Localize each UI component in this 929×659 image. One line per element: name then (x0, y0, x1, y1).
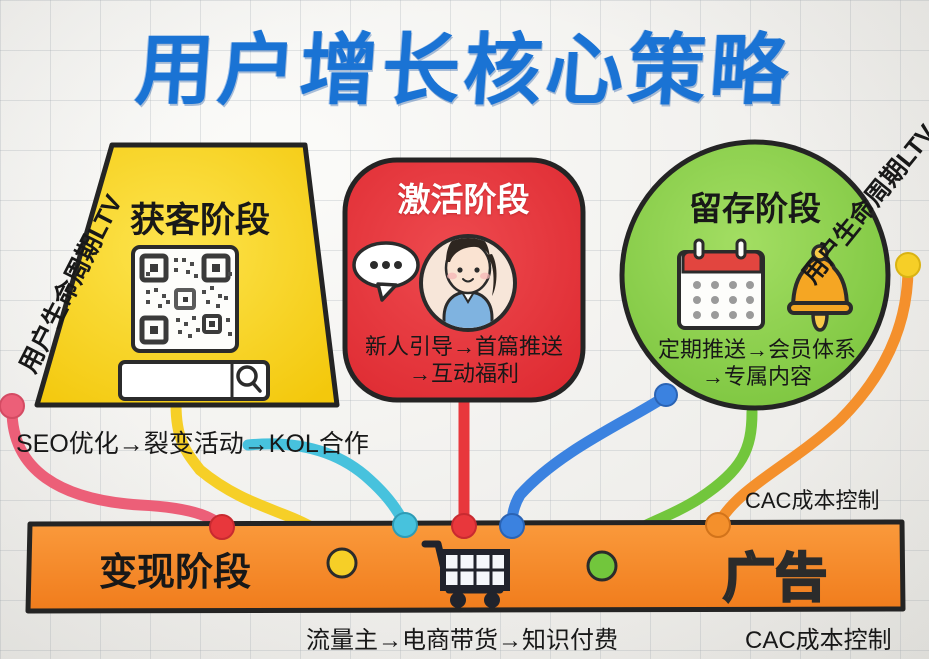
stage-monetization-caption: 流量主→电商带货→知识付费 (306, 620, 618, 655)
calendar-icon (679, 240, 763, 328)
stage-retention-caption: 定期推送→会员体系→专属内容 (632, 337, 882, 391)
yellow-dot-right (896, 253, 920, 277)
stage-monetization-title: 变现阶段 (80, 541, 270, 596)
orange-dot-bar (706, 513, 730, 537)
stage-activation-title: 激活阶段 (356, 173, 571, 221)
blue-dot-bar (500, 514, 524, 538)
pink-dot-bar (210, 515, 234, 539)
stage-acquisition-caption: SEO优化→裂变活动→KOL合作 (16, 424, 369, 460)
cac-label-top: CAC成本控制 (745, 483, 879, 515)
retention-caption-line2: →专属内容 (702, 364, 812, 389)
yellow-dot-bar (328, 549, 356, 577)
activation-caption-line2: →互动福利 (409, 361, 519, 386)
infographic-canvas: 用户增长核心策略 获客阶段 激活阶段 留存阶段 变现阶段 SEO优化→裂变活动→… (0, 0, 929, 659)
green-dot-bar (588, 552, 616, 580)
red-dot-bar (452, 514, 476, 538)
ad-word-label: 广告 (700, 536, 850, 611)
qr-code-icon (133, 247, 237, 351)
cyan-dot-bar (393, 513, 417, 537)
stage-activation-caption: 新人引导→首篇推送→互动福利 (348, 334, 580, 388)
search-bar-icon[interactable] (120, 362, 268, 399)
retention-caption-line1: 定期推送→会员体系 (658, 337, 856, 362)
user-avatar-icon (421, 233, 515, 332)
cac-label-bottom: CAC成本控制 (745, 620, 892, 655)
activation-caption-line1: 新人引导→首篇推送 (365, 334, 563, 359)
page-title: 用户增长核心策略 (0, 8, 929, 120)
pink-dot-top (0, 394, 24, 418)
